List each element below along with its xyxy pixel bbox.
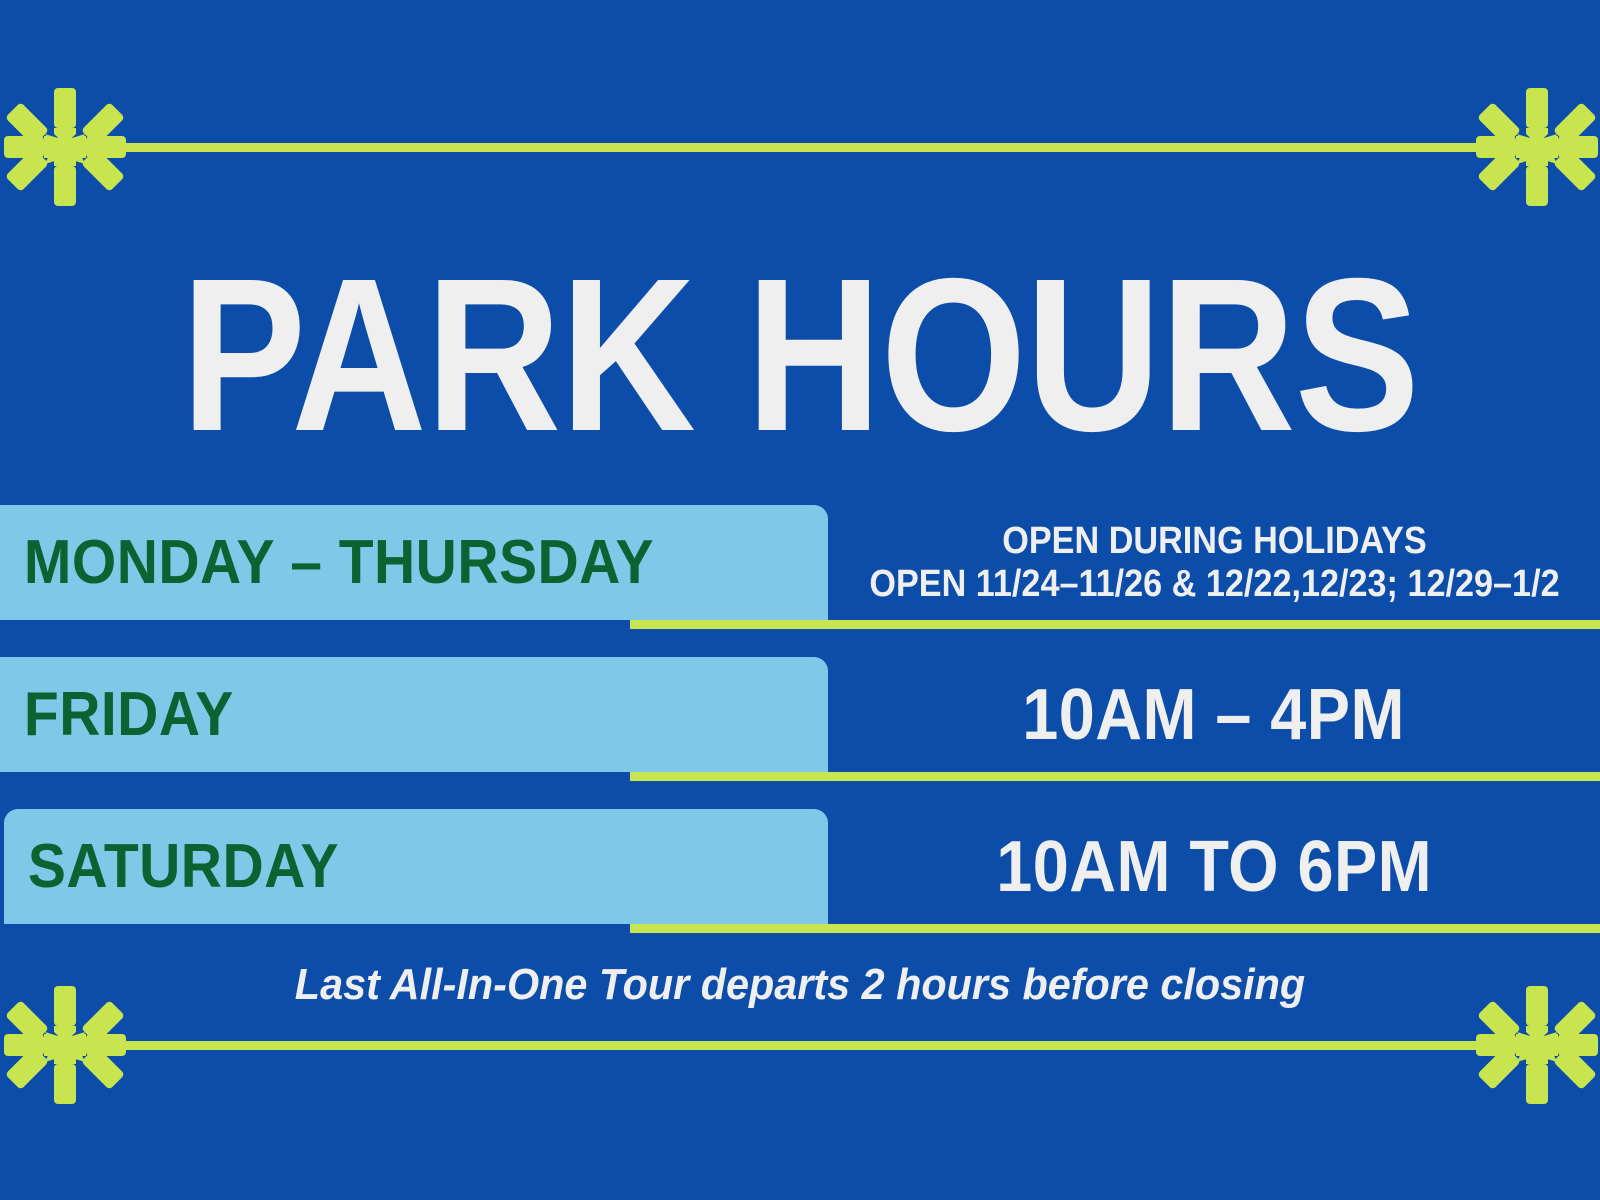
ornament-connector-line (122, 1041, 1478, 1050)
flower-starburst-icon (1472, 86, 1600, 208)
day-label-bar: SATURDAY (4, 809, 828, 924)
row-divider (630, 772, 1600, 781)
holiday-notice-line-2: OPEN 11/24–11/26 & 12/22,12/23; 12/29–1/… (869, 562, 1559, 606)
hours-cell: 10AM – 4PM (828, 657, 1600, 772)
table-row: FRIDAY 10AM – 4PM (0, 657, 1600, 809)
park-hours-poster: PARK HOURS MONDAY – THURSDAY OPEN DURING… (0, 0, 1600, 1200)
ornament-connector-line (122, 143, 1478, 152)
day-label-bar: MONDAY – THURSDAY (0, 505, 828, 620)
day-name: FRIDAY (0, 684, 234, 746)
day-label-bar: FRIDAY (0, 657, 828, 772)
hours-value: 10AM – 4PM (1023, 678, 1406, 752)
row-divider (630, 924, 1600, 933)
row-divider (630, 620, 1600, 629)
flower-starburst-icon (0, 86, 128, 208)
day-name: MONDAY – THURSDAY (0, 532, 654, 594)
flower-starburst-icon (0, 984, 128, 1106)
bottom-ornament-row (0, 980, 1600, 1110)
holiday-notice-line-1: OPEN DURING HOLIDAYS (869, 520, 1559, 562)
table-row: MONDAY – THURSDAY OPEN DURING HOLIDAYS O… (0, 505, 1600, 657)
top-ornament-row (0, 82, 1600, 212)
holiday-notice: OPEN DURING HOLIDAYS OPEN 11/24–11/26 & … (869, 520, 1559, 606)
hours-value: 10AM TO 6PM (996, 830, 1432, 904)
page-title: PARK HOURS (112, 244, 1488, 468)
day-name: SATURDAY (4, 836, 339, 898)
flower-starburst-icon (1472, 984, 1600, 1106)
schedule-table: MONDAY – THURSDAY OPEN DURING HOLIDAYS O… (0, 505, 1600, 961)
table-row: SATURDAY 10AM TO 6PM (0, 809, 1600, 961)
hours-cell: OPEN DURING HOLIDAYS OPEN 11/24–11/26 & … (828, 505, 1600, 620)
hours-cell: 10AM TO 6PM (828, 809, 1600, 924)
